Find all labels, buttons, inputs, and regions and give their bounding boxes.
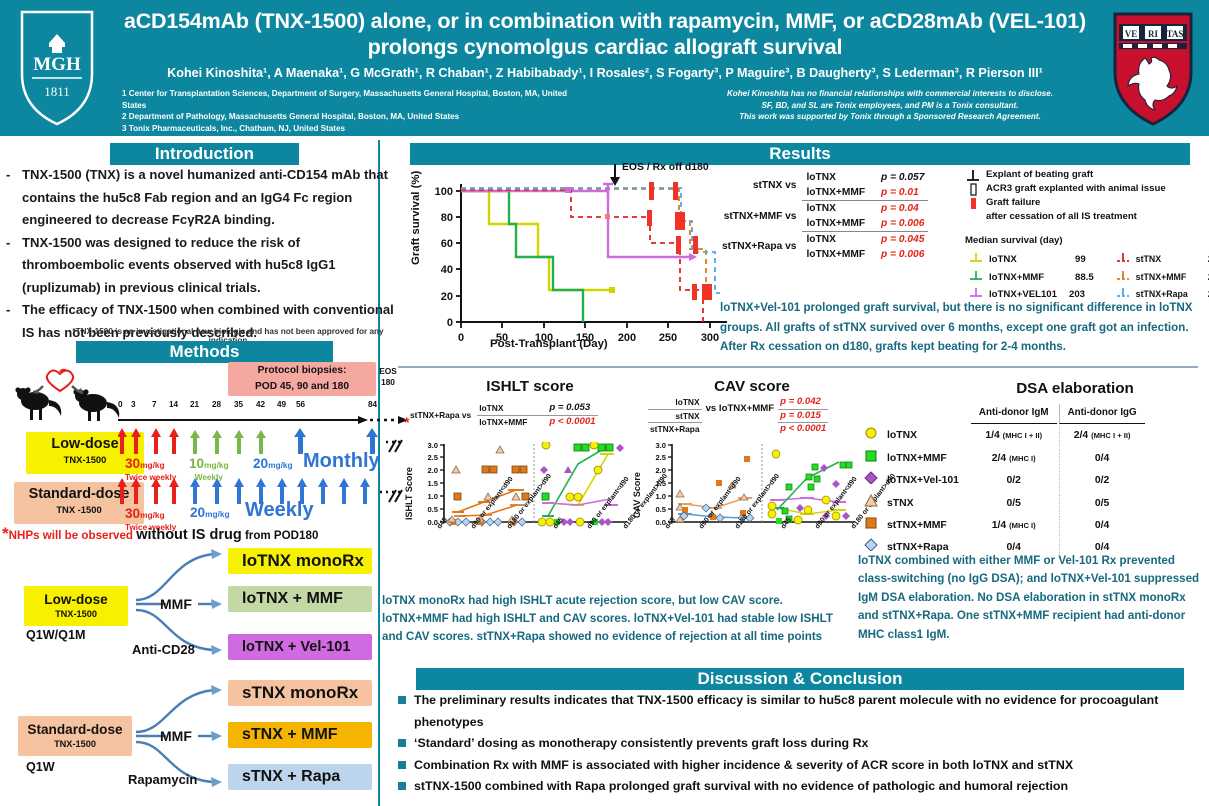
svg-text:1811: 1811 (44, 84, 70, 99)
svg-text:0.5: 0.5 (427, 505, 438, 514)
dsa-igm-value: 2/4 (MHC I) (971, 449, 1057, 469)
marker-cell (967, 270, 985, 286)
comparison-label: loTNX+MMF (802, 216, 869, 232)
tick-49: 49 (277, 400, 286, 409)
timeline-axis (118, 414, 408, 426)
table-row: stTNX+Rapa vs loTNX p = 0.045 (718, 232, 928, 248)
sttnx-rapa-marker-icon (1116, 287, 1130, 298)
table-row: loTNX+MMF 2/4 (MHC I) 0/4 (864, 449, 1145, 469)
biopsy-line1: Protocol biopsies: (228, 363, 376, 379)
survival-pvalue-table: stTNX vs loTNX p = 0.057 loTNX+MMF p = 0… (718, 170, 928, 262)
harvard-logo: VE RI TAS (1109, 10, 1197, 128)
dose-20-standard: 20mg/kg (190, 504, 230, 522)
note-asterisk: * (2, 524, 9, 543)
svg-text:250: 250 (659, 332, 677, 344)
tick-28: 28 (212, 400, 221, 409)
note-part-a: NHPs will be observed (9, 529, 137, 542)
list-item: Combination Rx with MMF is associated wi… (398, 755, 1198, 777)
section-header-discussion: Discussion & Conclusion (416, 668, 1184, 690)
group-label: stTNX+Rapa vs (408, 402, 477, 428)
break-slashes-low (386, 438, 404, 454)
cav-pvalue-table: loTNX vs loTNX+MMF p = 0.042 stTNX p = 0… (648, 396, 828, 436)
p-value: p = 0.006 (869, 247, 928, 262)
flow-connectors (126, 542, 246, 794)
svg-text:TAS: TAS (1167, 29, 1184, 39)
tick-21: 21 (190, 400, 199, 409)
sttnx-marker-icon (1116, 252, 1130, 263)
comparison-label: loTNX (477, 402, 529, 415)
dsa-group-name: loTNX+MMF (881, 449, 969, 469)
comparison-label: loTNX (802, 201, 869, 217)
legend-item-failure-sub: after cessation of all IS treatment (965, 210, 1205, 224)
flow-std-schedule: Q1W (26, 760, 55, 774)
bullet-square-icon (398, 782, 406, 790)
dsa-group-name: stTNX+MMF (881, 516, 969, 536)
marker-cell (864, 426, 879, 446)
bullet-square-icon (398, 739, 406, 747)
list-item-text: stTNX-1500 combined with Rapa prolonged … (414, 776, 1068, 798)
p-value: p = 0.015 (778, 409, 828, 423)
list-item-text: The preliminary results indicates that T… (414, 690, 1198, 733)
dsa-igm-value: 1/4 (MHC I + II) (971, 426, 1057, 446)
group-label: loTNX (648, 396, 702, 409)
flow-source-standarddose: Standard-dose TNX-1500 (18, 716, 132, 756)
list-item-text: TNX-1500 was designed to reduce the risk… (22, 232, 404, 300)
svg-text:60: 60 (441, 238, 453, 250)
svg-text:RI: RI (1148, 29, 1158, 39)
flow-box-stnx-mmf: sTNX + MMF (228, 722, 372, 748)
marker-cell (864, 494, 879, 514)
sttnx-rapa-diamond-icon (864, 538, 879, 551)
comparison-label: loTNX (802, 170, 869, 185)
tick-42: 42 (256, 400, 265, 409)
median-value: 277.5 (1192, 270, 1209, 286)
flow-mid-rapamycin: Rapamycin (128, 772, 197, 787)
table-row: loTNX+Vel-101 0/2 0/2 (864, 471, 1145, 491)
dsa-col-igg: Anti-donor IgG (1059, 404, 1145, 424)
marker-cell (864, 471, 879, 491)
results-summary-text: loTNX+Vel-101 prolonged graft survival, … (720, 298, 1200, 357)
monkey-heart-diagram (8, 368, 126, 424)
svg-text:3.0: 3.0 (427, 442, 438, 450)
dsa-igg-value: 0/4 (1059, 516, 1145, 536)
mgh-logo: MGH 1811 (18, 8, 96, 128)
legend-label: Explant of beating graft (986, 168, 1093, 181)
svg-text:MGH: MGH (33, 54, 81, 75)
list-item-text: ‘Standard’ dosing as monotherapy consist… (414, 733, 868, 755)
explant-marker-icon (965, 169, 981, 182)
dsa-igg-value: 0/5 (1059, 494, 1145, 514)
group-name: loTNX (987, 252, 1059, 268)
legend-label: ACR3 graft explanted with animal issue (986, 182, 1166, 195)
bullet-square-icon (398, 761, 406, 769)
svg-text:VE: VE (1125, 29, 1138, 39)
table-header-row: Anti-donor IgM Anti-donor IgG (864, 404, 1145, 424)
flow-std-label: Standard-dose (18, 722, 132, 738)
affiliations: 1 Center for Transplantation Sciences, D… (122, 88, 592, 134)
dsa-igg-value: 2/4 (MHC I + II) (1059, 426, 1145, 446)
dsa-table: Anti-donor IgM Anti-donor IgG loTNX 1/4 … (862, 402, 1147, 561)
acr3-marker-icon (965, 183, 981, 196)
flow-box-lotnx-vel101: loTNX + Vel-101 (228, 634, 372, 660)
bullet-square-icon (398, 696, 406, 704)
group-name: stTNX+MMF (1134, 270, 1190, 286)
dsa-title: DSA elaboration (950, 380, 1200, 397)
flow-mid-mmf-1: MMF (160, 596, 192, 612)
median-value: 99 (1061, 252, 1096, 268)
median-survival-table: loTNX 99 stTNX 265 loTNX+MMF 88.5 stTNX+… (965, 250, 1209, 305)
eos-rx-annotation: EOS / Rx off d180 (622, 162, 709, 173)
median-value: 88.5 (1061, 270, 1096, 286)
svg-text:40: 40 (441, 264, 453, 276)
legend-item-acr3: ACR3 graft explanted with animal issue (965, 182, 1205, 196)
ishlt-ylabel: ISHLT Score (404, 467, 414, 520)
group-label: stTNX+Rapa (648, 423, 702, 436)
lotnx-vel101-marker-icon (969, 287, 983, 298)
flow-box-lotnx-mmf: loTNX + MMF (228, 586, 372, 612)
section-header-methods: Methods (76, 341, 333, 363)
comparison-label: loTNX (802, 232, 869, 248)
timeline-ticks: 0 3 7 14 21 28 35 42 49 56 84 (118, 400, 408, 412)
dsa-igm-value: 1/4 (MHC I) (971, 516, 1057, 536)
list-item: stTNX-1500 combined with Rapa prolonged … (398, 776, 1198, 798)
marker-cell (864, 516, 879, 536)
section-divider (398, 366, 1198, 368)
nhp-observation-note: *NHPs will be observed without IS drug f… (2, 524, 402, 544)
bullet-dash: - (6, 299, 22, 344)
svg-text:3.0: 3.0 (655, 442, 666, 450)
svg-text:1.5: 1.5 (427, 479, 438, 488)
group-label: stTNX vs (718, 170, 802, 201)
cav-ylabel: CAV Score (632, 472, 642, 518)
sttnx-mmf-square-icon (864, 516, 879, 529)
tick-84: 84 (368, 400, 377, 409)
lotnx-vel101-diamond-icon (864, 471, 879, 484)
comparison-label: loTNX+MMF (802, 185, 869, 201)
group-name: loTNX+MMF (987, 270, 1059, 286)
lotnx-circle-icon (864, 426, 879, 439)
svg-text:200: 200 (618, 332, 636, 344)
ishlt-pvalue-table: stTNX+Rapa vs loTNX p = 0.053 loTNX+MMF … (408, 402, 598, 428)
group-label: stTNX+Rapa vs (718, 232, 802, 263)
survival-ylabel: Graft survival (%) (410, 171, 422, 265)
sttnx-mmf-marker-icon (1116, 270, 1130, 281)
table-row: loTNX 1/4 (MHC I + II) 2/4 (MHC I + II) (864, 426, 1145, 446)
stnx-triangle-icon (864, 494, 879, 507)
lotnx-mmf-marker-icon (969, 270, 983, 281)
eos-label: EOS 180 (372, 366, 404, 388)
tick-7: 7 (152, 400, 157, 409)
flow-low-label: Low-dose (24, 592, 128, 608)
dsa-group-name: loTNX (881, 426, 969, 446)
flow-box-lotnx-monorx: loTNX monoRx (228, 548, 372, 574)
weekly-label: Weekly (245, 499, 314, 522)
dsa-summary-text: loTNX combined with either MMF or Vel-10… (858, 552, 1202, 644)
section-header-results: Results (410, 143, 1190, 165)
lotnx-marker-icon (969, 252, 983, 263)
svg-text:1.0: 1.0 (655, 492, 666, 501)
vs-label: vs loTNX+MMF (702, 396, 779, 423)
ishlt-chart-title: ISHLT score (440, 378, 620, 395)
svg-text:80: 80 (441, 212, 453, 224)
legend-item-explant: Explant of beating graft (965, 168, 1205, 182)
group-label: stTNX (648, 409, 702, 423)
p-value: p = 0.006 (869, 216, 928, 232)
flow-std-drug: TNX-1500 (18, 738, 132, 751)
tick-14: 14 (169, 400, 178, 409)
svg-text:20: 20 (441, 291, 453, 303)
disclosure-statement: Kohei Kinoshita has no financial relatio… (690, 88, 1090, 123)
note-part-c: from POD180 (242, 529, 319, 542)
svg-text:2.0: 2.0 (655, 466, 666, 475)
p-value: p = 0.045 (869, 232, 928, 248)
table-row: stTNX vs loTNX p = 0.057 (718, 170, 928, 185)
flow-mid-mmf-2: MMF (160, 728, 192, 744)
list-item-text: Combination Rx with MMF is associated wi… (414, 755, 1073, 777)
dsa-igm-value: 0/2 (971, 471, 1057, 491)
section-header-introduction: Introduction (110, 143, 299, 165)
flow-source-lowdose: Low-dose TNX-1500 (24, 586, 128, 626)
dsa-group-name: sTNX (881, 494, 969, 514)
table-row: loTNX 99 stTNX 265 (967, 252, 1209, 268)
svg-text:0: 0 (458, 332, 464, 344)
p-value: p < 0.0001 (529, 415, 597, 428)
note-part-b: without IS drug (136, 527, 242, 543)
list-item: The preliminary results indicates that T… (398, 690, 1198, 733)
svg-text:1.5: 1.5 (655, 479, 666, 488)
p-value: p = 0.01 (869, 185, 928, 201)
p-value: p = 0.053 (529, 402, 597, 415)
svg-text:100: 100 (435, 186, 453, 198)
table-row: stTNX+Rapa vs loTNX p = 0.053 (408, 402, 598, 415)
table-row: stTNX+Rapa p < 0.0001 (648, 423, 828, 436)
median-value: 265 (1192, 252, 1209, 268)
dsa-group-name: loTNX+Vel-101 (881, 471, 969, 491)
svg-text:2.0: 2.0 (427, 466, 438, 475)
cav-chart-title: CAV score (672, 378, 832, 395)
introduction-list: - TNX-1500 (TNX) is a novel humanized an… (6, 164, 404, 344)
marker-cell (1098, 270, 1132, 286)
tick-56: 56 (296, 400, 305, 409)
failure-marker-icon (965, 197, 981, 210)
svg-text:1.0: 1.0 (427, 492, 438, 501)
author-list: Kohei Kinoshita¹, A Maenaka¹, G McGrath¹… (96, 66, 1114, 81)
svg-text:0.5: 0.5 (655, 505, 666, 514)
survival-curve-plot: 02040 6080100 050100 150200250 300 (425, 176, 735, 346)
svg-text:300: 300 (701, 332, 719, 344)
p-value: p = 0.042 (778, 396, 828, 409)
table-row: loTNX+MMF 88.5 stTNX+MMF 277.5 (967, 270, 1209, 286)
flow-box-stnx-monorx: sTNX monoRx (228, 680, 372, 706)
results-symbol-legend: Explant of beating graft ACR3 graft expl… (965, 168, 1205, 224)
legend-label: Graft failure (986, 196, 1040, 209)
list-item-text: TNX-1500 (TNX) is a novel humanized anti… (22, 164, 404, 232)
svg-text:2.5: 2.5 (655, 453, 666, 462)
list-item: ‘Standard’ dosing as monotherapy consist… (398, 733, 1198, 755)
table-row: sTNX 0/5 0/5 (864, 494, 1145, 514)
marker-cell (864, 449, 879, 469)
biopsy-line2: POD 45, 90 and 180 (228, 379, 376, 395)
break-slashes-standard (386, 488, 404, 504)
bullet-dash: - (6, 164, 22, 232)
comparison-label: loTNX+MMF (802, 247, 869, 262)
monthly-label: Monthly (303, 450, 380, 473)
median-survival-title: Median survival (day) (965, 234, 1063, 247)
comparison-label: loTNX+MMF (477, 415, 529, 428)
svg-text:2.5: 2.5 (427, 453, 438, 462)
group-name: stTNX (1134, 252, 1190, 268)
legend-item-failure: Graft failure (965, 196, 1205, 210)
lotnx-mmf-square-icon (864, 449, 879, 462)
list-item: - TNX-1500 (TNX) is a novel humanized an… (6, 164, 404, 232)
tick-35: 35 (234, 400, 243, 409)
flow-low-drug: TNX-1500 (24, 608, 128, 621)
svg-text:0: 0 (447, 317, 453, 329)
table-row: stTNX+MMF 1/4 (MHC I) 0/4 (864, 516, 1145, 536)
dsa-igg-value: 0/2 (1059, 471, 1145, 491)
table-row: loTNX vs loTNX+MMF p = 0.042 (648, 396, 828, 409)
poster-header: MGH 1811 VE RI TAS aCD154mAb (TNX-1500) … (0, 0, 1209, 136)
table-row: stTNX+MMF vs loTNX p = 0.04 (718, 201, 928, 217)
dsa-igm-value: 0/5 (971, 494, 1057, 514)
flow-low-schedule: Q1W/Q1M (26, 628, 85, 642)
tick-0: 0 (118, 400, 123, 409)
group-label: stTNX+MMF vs (718, 201, 802, 232)
tick-3: 3 (131, 400, 136, 409)
dsa-col-igm: Anti-donor IgM (971, 404, 1057, 424)
dsa-igg-value: 0/4 (1059, 449, 1145, 469)
protocol-biopsy-box: Protocol biopsies: POD 45, 90 and 180 (228, 362, 376, 396)
p-value: p < 0.0001 (778, 423, 828, 436)
discussion-list: The preliminary results indicates that T… (398, 690, 1198, 798)
poster-title: aCD154mAb (TNX-1500) alone, or in combin… (100, 8, 1110, 60)
score-summary-text: loTNX monoRx had high ISHLT acute reject… (382, 592, 852, 646)
flow-box-stnx-rapa: sTNX + Rapa (228, 764, 372, 790)
marker-cell (967, 252, 985, 268)
flow-mid-anticd28: Anti-CD28 (132, 642, 195, 657)
bullet-dash: - (6, 232, 22, 300)
p-value: p = 0.04 (869, 201, 928, 217)
survival-xlabel: Post-Transplant (Day) (490, 338, 608, 350)
p-value: p = 0.057 (869, 170, 928, 185)
list-item: - TNX-1500 was designed to reduce the ri… (6, 232, 404, 300)
dose-20-low: 20mg/kg (253, 455, 293, 473)
marker-cell (1098, 252, 1132, 268)
